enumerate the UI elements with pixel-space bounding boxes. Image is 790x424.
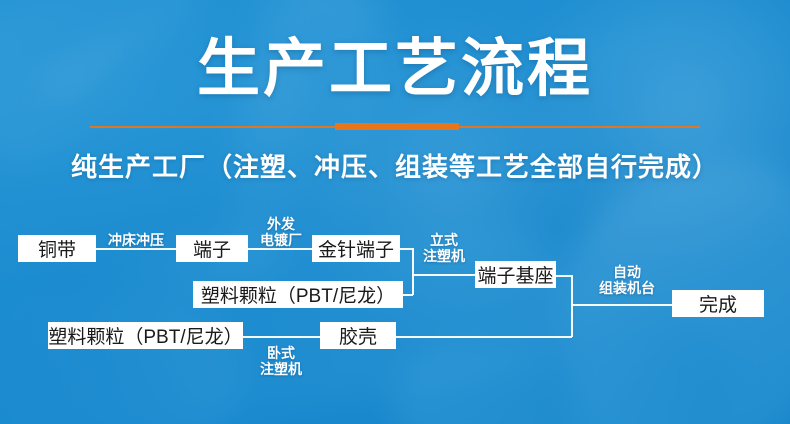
node-copper-strip[interactable]: 铜带 [18, 235, 96, 262]
edge-label-outsourced-plating: 外发 电镀厂 [250, 216, 312, 248]
production-process-banner: 生产工艺流程 纯生产工厂（注塑、冲压、组装等工艺全部自行完成） 冲床冲压 外发 … [0, 0, 790, 424]
node-plastic-pellet-top[interactable]: 塑料颗粒（PBT/尼龙） [193, 281, 403, 308]
connector-terminalbase-to-bracket [556, 275, 572, 277]
node-plastic-pellet-bottom[interactable]: 塑料颗粒（PBT/尼龙） [48, 322, 243, 349]
connector-terminal-to-goldpin [248, 248, 313, 250]
edge-label-auto-assembly: 自动 组装机台 [585, 264, 669, 296]
node-finished[interactable]: 完成 [672, 290, 764, 317]
process-flow-diagram: 冲床冲压 外发 电镀厂 立式 注塑机 卧式 注塑机 自动 组装机台 铜带 端子 … [0, 0, 790, 424]
node-plastic-housing[interactable]: 胶壳 [320, 322, 396, 349]
bracket-vertical-right [571, 275, 573, 337]
connector-copper-to-terminal [96, 248, 176, 250]
connector-bracket-to-finished [571, 304, 672, 306]
connector-pellet-to-housing [243, 336, 320, 338]
node-terminal[interactable]: 端子 [176, 235, 248, 262]
node-gold-pin-terminal[interactable]: 金针端子 [312, 235, 400, 262]
edge-label-punch-press: 冲床冲压 [98, 232, 174, 248]
edge-label-horizontal-molding: 卧式 注塑机 [252, 345, 310, 377]
connector-housing-to-bracket [396, 336, 572, 338]
edge-label-vertical-molding: 立式 注塑机 [414, 232, 474, 264]
node-terminal-base[interactable]: 端子基座 [475, 261, 556, 288]
connector-bracket-to-terminalbase [412, 274, 475, 276]
